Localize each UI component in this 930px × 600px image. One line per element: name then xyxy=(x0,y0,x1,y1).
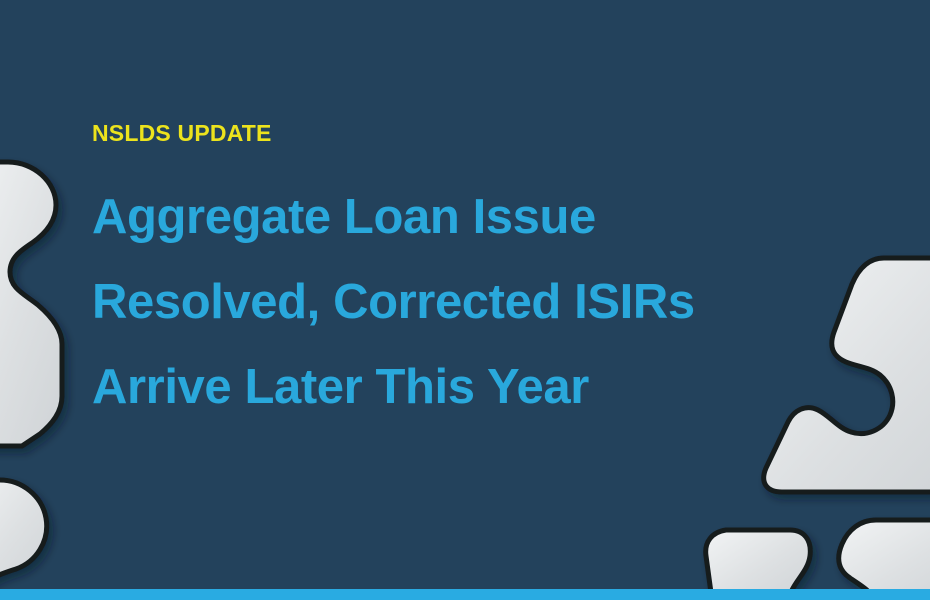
banner-text-block: NSLDS UPDATE Aggregate Loan Issue Resolv… xyxy=(92,118,832,430)
bottom-accent-bar xyxy=(0,589,930,600)
nslds-update-banner: NSLDS UPDATE Aggregate Loan Issue Resolv… xyxy=(0,0,930,600)
eyebrow-label: NSLDS UPDATE xyxy=(92,118,832,148)
headline-line-1: Aggregate Loan Issue xyxy=(92,175,832,260)
puzzle-piece-right-bottom xyxy=(839,520,930,600)
page-title: Aggregate Loan Issue Resolved, Corrected… xyxy=(92,175,832,430)
puzzle-piece-left-bottom xyxy=(0,480,47,592)
headline-line-3: Arrive Later This Year xyxy=(92,345,832,430)
puzzle-piece-left-middle xyxy=(0,162,62,446)
headline-line-2: Resolved, Corrected ISIRs xyxy=(92,260,832,345)
